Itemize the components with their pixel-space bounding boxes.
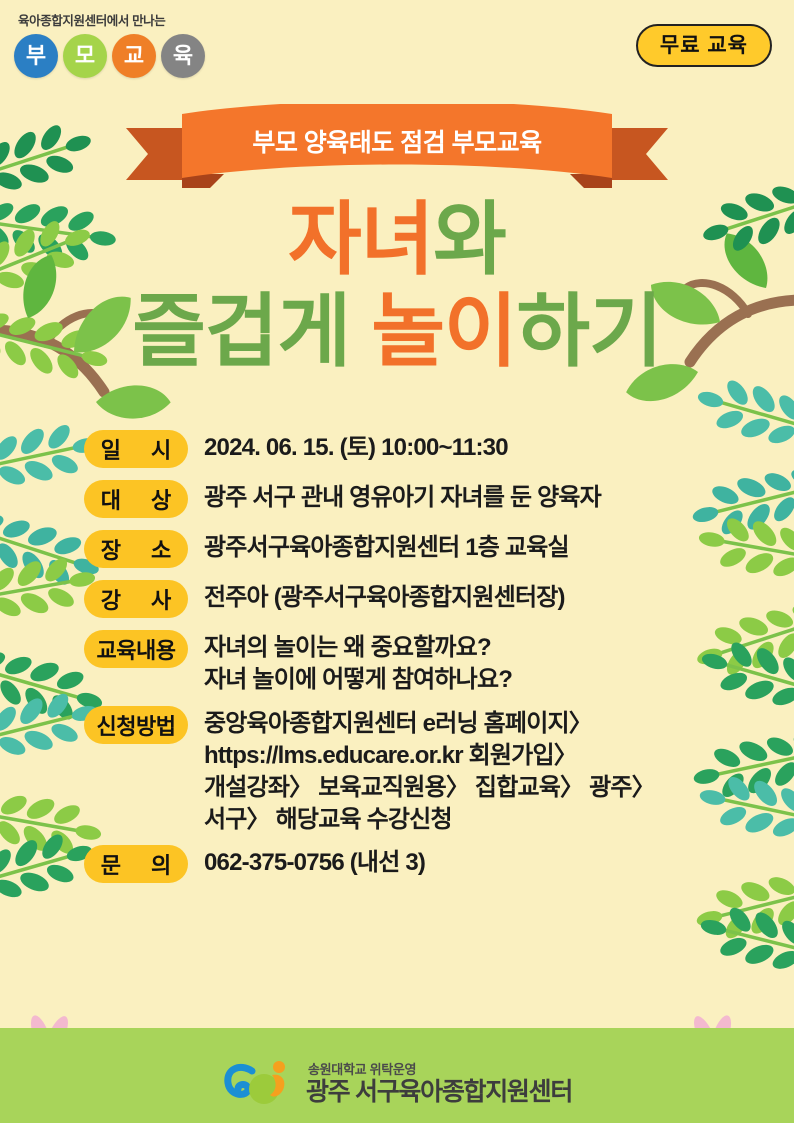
info-value-line: https://lms.educare.or.kr 회원가입〉 [204, 740, 655, 772]
circle-badge-blue: 부 [14, 34, 58, 78]
info-value: 2024. 06. 15. (토) 10:00~11:30 [204, 430, 508, 464]
info-value-line: 개설강좌〉 보육교직원용〉 집합교육〉 광주〉 [204, 772, 655, 804]
info-label-pill: 강 사 [84, 580, 188, 618]
info-value-line: 중앙육아종합지원센터 e러닝 홈페이지〉 [204, 708, 655, 740]
brand-tagline: 육아종합지원센터에서 만나는 [18, 10, 224, 29]
title-line1-a: 자녀 [288, 195, 433, 284]
title-line2-b: 놀이 [371, 287, 516, 376]
info-label-pill: 신청방법 [84, 706, 188, 744]
title-line2-a: 즐겁게 [132, 287, 371, 376]
free-education-badge: 무료 교육 [636, 24, 772, 67]
info-value-line: 062-375-0756 (내선 3) [204, 847, 425, 879]
info-value-line: 전주아 (광주서구육아종합지원센터장) [204, 582, 565, 614]
info-row: 대 상광주 서구 관내 영유아기 자녀를 둔 양육자 [84, 480, 724, 518]
footer-logo: 송원대학교 위탁운영 광주 서구육아종합지원센터 [0, 1059, 794, 1111]
info-label-pill: 문 의 [84, 845, 188, 883]
ribbon-banner: 부모 양육태도 점검 부모교육 [0, 104, 794, 188]
info-label-pill: 장 소 [84, 530, 188, 568]
footer-title: 광주 서구육아종합지원센터 [306, 1079, 572, 1107]
poster-canvas: 육아종합지원센터에서 만나는 부 모 교 육 무료 교육 부모 양육태도 점검 … [0, 0, 794, 1123]
info-row: 교육내용자녀의 놀이는 왜 중요할까요?자녀 놀이에 어떻게 참여하나요? [84, 630, 724, 696]
brand-circle-group: 부 모 교 육 [14, 34, 224, 78]
info-value: 광주서구육아종합지원센터 1층 교육실 [204, 530, 569, 564]
info-row: 강 사전주아 (광주서구육아종합지원센터장) [84, 580, 724, 618]
info-label-pill: 교육내용 [84, 630, 188, 668]
brand-logo: 육아종합지원센터에서 만나는 부 모 교 육 [14, 10, 224, 78]
title-line2-c: 하기 [517, 287, 662, 376]
info-value-line: 자녀 놀이에 어떻게 참여하나요? [204, 664, 512, 696]
info-row: 문 의062-375-0756 (내선 3) [84, 845, 724, 883]
info-label-pill: 대 상 [84, 480, 188, 518]
info-value-line: 서구〉 해당교육 수강신청 [204, 804, 655, 836]
info-value: 자녀의 놀이는 왜 중요할까요?자녀 놀이에 어떻게 참여하나요? [204, 630, 512, 696]
info-value-line: 2024. 06. 15. (토) 10:00~11:30 [204, 432, 508, 464]
sc-swirl-logo-icon [222, 1059, 296, 1111]
circle-badge-green: 모 [63, 34, 107, 78]
info-value: 전주아 (광주서구육아종합지원센터장) [204, 580, 565, 614]
info-row: 신청방법중앙육아종합지원센터 e러닝 홈페이지〉https://lms.educ… [84, 706, 724, 836]
ribbon-text: 부모 양육태도 점검 부모교육 [0, 110, 794, 172]
info-value: 광주 서구 관내 영유아기 자녀를 둔 양육자 [204, 480, 601, 514]
page-title: 자녀와 즐겁게 놀이하기 [0, 196, 794, 376]
info-value: 062-375-0756 (내선 3) [204, 845, 425, 879]
info-row: 일 시2024. 06. 15. (토) 10:00~11:30 [84, 430, 724, 468]
info-value-line: 광주 서구 관내 영유아기 자녀를 둔 양육자 [204, 482, 601, 514]
info-value-line: 광주서구육아종합지원센터 1층 교육실 [204, 532, 569, 564]
circle-badge-gray: 육 [161, 34, 205, 78]
info-list: 일 시2024. 06. 15. (토) 10:00~11:30대 상광주 서구… [84, 430, 724, 895]
info-label-pill: 일 시 [84, 430, 188, 468]
info-row: 장 소광주서구육아종합지원센터 1층 교육실 [84, 530, 724, 568]
circle-badge-orange: 교 [112, 34, 156, 78]
info-value-line: 자녀의 놀이는 왜 중요할까요? [204, 632, 512, 664]
title-line1-b: 와 [433, 195, 506, 284]
info-value: 중앙육아종합지원센터 e러닝 홈페이지〉https://lms.educare.… [204, 706, 655, 836]
footer-subtitle: 송원대학교 위탁운영 [308, 1063, 572, 1077]
